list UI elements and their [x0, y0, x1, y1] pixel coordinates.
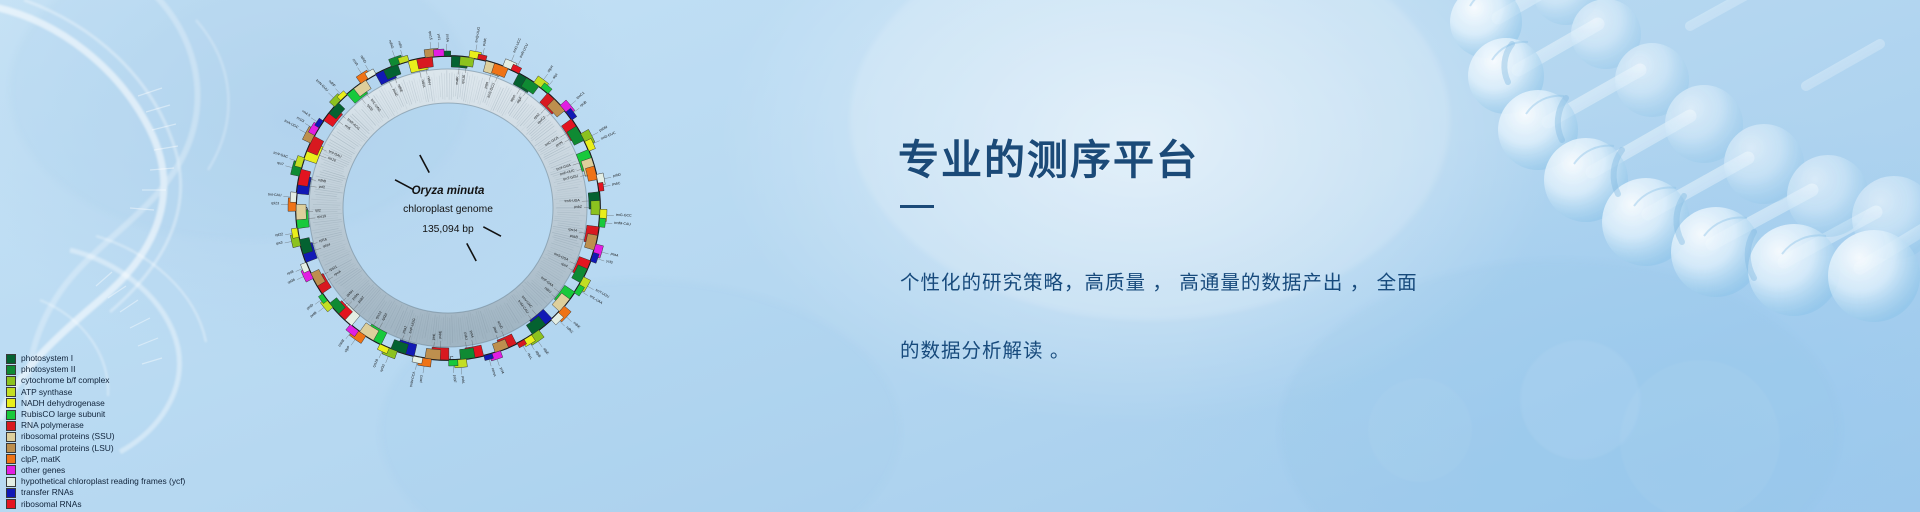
legend-item-label: ATP synthase: [21, 387, 72, 398]
gene-label: cemA: [491, 367, 497, 377]
gene-label: psbK: [482, 37, 488, 46]
legend-item: photosystem II: [6, 364, 256, 375]
gene-label: ndhG: [388, 40, 395, 50]
gene-label: matK: [455, 76, 460, 85]
legend-item-label: RNA polymerase: [21, 420, 84, 431]
gene-label: psbF: [453, 375, 457, 383]
gene-label: ycf4: [499, 367, 505, 374]
gene-leader-line: [299, 130, 305, 133]
gene-leader-line: [351, 340, 355, 346]
gene-leader-line: [392, 51, 394, 58]
gene-label: psbE: [438, 330, 442, 339]
legend-item: clpP, matK: [6, 454, 256, 465]
gene-leader-line: [497, 359, 499, 366]
gene-label: ycf3: [606, 259, 613, 265]
gene-block: [511, 64, 522, 73]
legend-item: ribosomal proteins (LSU): [6, 443, 256, 454]
legend-item: ribosomal RNAs: [6, 498, 256, 509]
gene-label: psbA: [445, 34, 449, 43]
gene-block: [296, 204, 306, 220]
legend-item: ribosomal proteins (SSU): [6, 431, 256, 442]
legend-color-swatch: [6, 443, 16, 453]
gene-leader-line: [285, 234, 292, 235]
gene-label: petB: [309, 310, 318, 318]
gene-label: atpE: [542, 347, 550, 356]
legend-color-swatch: [6, 477, 16, 487]
gene-label: rbcL: [526, 352, 533, 360]
gene-label: clpP: [344, 345, 352, 353]
gene-block: [591, 201, 600, 215]
gene-leader-line: [297, 277, 303, 280]
gene-leader-line: [358, 68, 362, 74]
legend-color-swatch: [6, 421, 16, 431]
gene-label: trnV-GAC: [273, 151, 289, 159]
gene-leader-line: [318, 307, 323, 311]
gene-label: ndhI: [397, 41, 403, 49]
legend-color-swatch: [6, 454, 16, 464]
gene-leader-line: [461, 367, 462, 374]
gene-label: ccsA: [352, 58, 360, 67]
gene-leader-line: [430, 42, 431, 49]
gene-leader-line: [538, 341, 542, 347]
gene-leader-line: [544, 74, 548, 80]
gene-label: rpl36: [287, 278, 296, 285]
gene-block: [377, 344, 389, 354]
gene-leader-line: [602, 252, 609, 254]
gene-block: [433, 49, 444, 57]
gene-leader-line: [315, 300, 321, 304]
gene-label: atpH: [547, 64, 555, 73]
gene-leader-line: [483, 48, 485, 55]
gene-leader-line: [604, 186, 611, 187]
legend-item: cytochrome b/f complex: [6, 375, 256, 386]
gene-leader-line: [582, 292, 588, 296]
gene-label: rps18: [372, 358, 379, 368]
legend-color-swatch: [6, 432, 16, 442]
gene-block: [417, 57, 434, 69]
gene-label: trnS-UGA: [565, 198, 581, 203]
gene-leader-line: [366, 65, 370, 71]
legend-item: RubisCO large subunit: [6, 409, 256, 420]
subtitle-line-1: 个性化的研究策略，高质量 ， 高通量的数据产出 ， 全面: [900, 266, 1618, 300]
gene-label: rpl2: [315, 208, 321, 212]
gene-leader-line: [560, 321, 565, 326]
gene-label: trnW-CCA: [409, 370, 416, 387]
gene-block: [291, 228, 298, 238]
legend-item-label: ribosomal RNAs: [21, 499, 82, 510]
legend-item-label: RubisCO large subunit: [21, 409, 105, 420]
gene-label: trnN-GUU: [315, 79, 329, 93]
gene-label: atpI: [552, 73, 559, 80]
gene-leader-line: [604, 177, 611, 178]
gene-leader-line: [605, 223, 612, 224]
gene-label: rps19: [317, 214, 326, 219]
gene-label: psbZ: [574, 205, 583, 209]
gene-label: psbM: [599, 125, 609, 132]
gene-label: rpoC1: [575, 91, 585, 100]
gene-block: [290, 192, 297, 202]
gene-block: [299, 238, 312, 255]
legend-item-label: cytochrome b/f complex: [21, 375, 109, 386]
gene-label: petD: [306, 303, 315, 311]
legend-item-label: transfer RNAs: [21, 487, 74, 498]
gene-label: rpl33: [379, 364, 386, 373]
gene-leader-line: [571, 101, 576, 106]
gene-leader-line: [592, 132, 598, 135]
legend-color-swatch: [6, 387, 16, 397]
gene-label: psbC: [612, 181, 621, 186]
gene-leader-line: [336, 89, 341, 94]
gene-label: trnD-GUC: [600, 131, 616, 141]
page-title: 专业的测序平台: [898, 138, 1618, 183]
gene-leader-line: [588, 286, 594, 289]
legend-color-swatch: [6, 398, 16, 408]
gene-label: petL: [431, 333, 436, 340]
legend-color-swatch: [6, 354, 16, 364]
legend-item-label: photosystem I: [21, 353, 73, 364]
legend-item: ATP synthase: [6, 387, 256, 398]
legend-color-swatch: [6, 376, 16, 386]
legend-item-label: hypothetical chloroplast reading frames …: [21, 476, 185, 487]
gene-label: trnL-UAA: [589, 294, 604, 305]
gene-leader-line: [476, 45, 477, 52]
title-divider: [900, 205, 934, 208]
legend-item: other genes: [6, 465, 256, 476]
genome-map-legend: photosystem Iphotosystem IIcytochrome b/…: [6, 353, 256, 510]
legend-item: RNA polymerase: [6, 420, 256, 431]
gene-label: trnA-UGC: [284, 119, 300, 130]
gene-block: [598, 182, 604, 191]
gene-label: psbD: [613, 172, 622, 178]
gene-label: ndhC: [565, 325, 574, 334]
gene-label: atpB: [534, 350, 542, 359]
legend-item: transfer RNAs: [6, 487, 256, 498]
legend-color-swatch: [6, 465, 16, 475]
gene-leader-line: [548, 81, 552, 86]
gene-leader-line: [285, 166, 292, 168]
gene-label: trnR-UCU: [519, 43, 530, 59]
gene-leader-line: [518, 60, 521, 66]
gene-label: trnI-CAU: [268, 192, 282, 197]
gene-block: [460, 348, 475, 360]
gene-leader-line: [285, 241, 292, 242]
legend-color-swatch: [6, 499, 16, 509]
gene-block: [449, 360, 458, 366]
gene-label: rps8: [286, 269, 294, 275]
genome-length-label: 135,094 bp: [422, 224, 474, 235]
subtitle-line-2: 的数据分析解读 。: [900, 334, 1618, 368]
legend-item: hypothetical chloroplast reading frames …: [6, 476, 256, 487]
gene-leader-line: [379, 352, 382, 358]
gene-label: ndhD: [359, 55, 367, 65]
gene-label: trnQ-UUG: [474, 26, 481, 42]
gene-label: psbB: [337, 338, 345, 347]
legend-item-label: NADH dehydrogenase: [21, 398, 105, 409]
gene-label: trnG-GCC: [616, 213, 632, 218]
gene-leader-line: [423, 366, 424, 373]
gene-leader-line: [489, 359, 491, 366]
gene-label: ndhK: [572, 321, 581, 330]
gene-block: [590, 252, 599, 263]
gene-label: psbL: [461, 376, 466, 384]
gene-label: petG: [419, 374, 424, 382]
gene-leader-line: [567, 317, 572, 322]
gene-block: [295, 156, 305, 168]
gene-label: rps7: [277, 161, 285, 167]
legend-item-label: other genes: [21, 465, 65, 476]
legend-item-label: ribosomal proteins (SSU): [21, 431, 115, 442]
sequencing-platform-banner: LSC IRA SSC IRB psbAmatKrps16trnQ-UUGpsb…: [0, 0, 1920, 512]
legend-color-swatch: [6, 410, 16, 420]
gene-label: rrn4.5: [301, 109, 311, 117]
genome-organism-name: Oryza minuta: [412, 185, 485, 197]
legend-item: photosystem I: [6, 353, 256, 364]
chloroplast-genome-map: LSC IRA SSC IRB psbAmatKrps16trnQ-UUGpsb…: [248, 8, 648, 408]
gene-label: rpl23: [271, 201, 279, 205]
legend-item-label: ribosomal proteins (LSU): [21, 443, 114, 454]
gene-label: ndhF: [328, 79, 336, 88]
gene-leader-line: [290, 159, 297, 161]
legend-color-swatch: [6, 365, 16, 375]
gene-leader-line: [415, 363, 416, 370]
gene-leader-line: [386, 356, 389, 362]
gene-label: rps3: [275, 240, 283, 245]
gene-leader-line: [328, 93, 333, 98]
banner-subtitle: 个性化的研究策略，高质量 ， 高通量的数据产出 ， 全面 的数据分析解读 。: [900, 232, 1618, 403]
gene-label: psaA: [610, 252, 619, 258]
gene-label: trnfM-CAU: [614, 221, 631, 227]
gene-leader-line: [511, 55, 514, 61]
gene-label: rps15: [428, 31, 433, 40]
banner-copy: 专业的测序平台 个性化的研究策略，高质量 ， 高通量的数据产出 ， 全面 的数据…: [898, 138, 1618, 403]
gene-label: rpl22: [275, 232, 283, 237]
legend-item: NADH dehydrogenase: [6, 398, 256, 409]
gene-leader-line: [346, 333, 350, 339]
gene-block: [425, 348, 441, 359]
gene-leader-line: [311, 118, 317, 122]
legend-item-label: photosystem II: [21, 364, 75, 375]
genome-type-label: chloroplast genome: [403, 204, 493, 215]
gene-leader-line: [598, 259, 605, 261]
legend-item-label: clpP, matK: [21, 454, 60, 465]
gene-label: ycf1: [437, 34, 441, 41]
gene-block: [599, 218, 606, 227]
gene-label: rrn23: [296, 116, 305, 124]
legend-color-swatch: [6, 488, 16, 498]
gene-leader-line: [305, 123, 311, 127]
gene-label: rpoB: [579, 100, 588, 108]
